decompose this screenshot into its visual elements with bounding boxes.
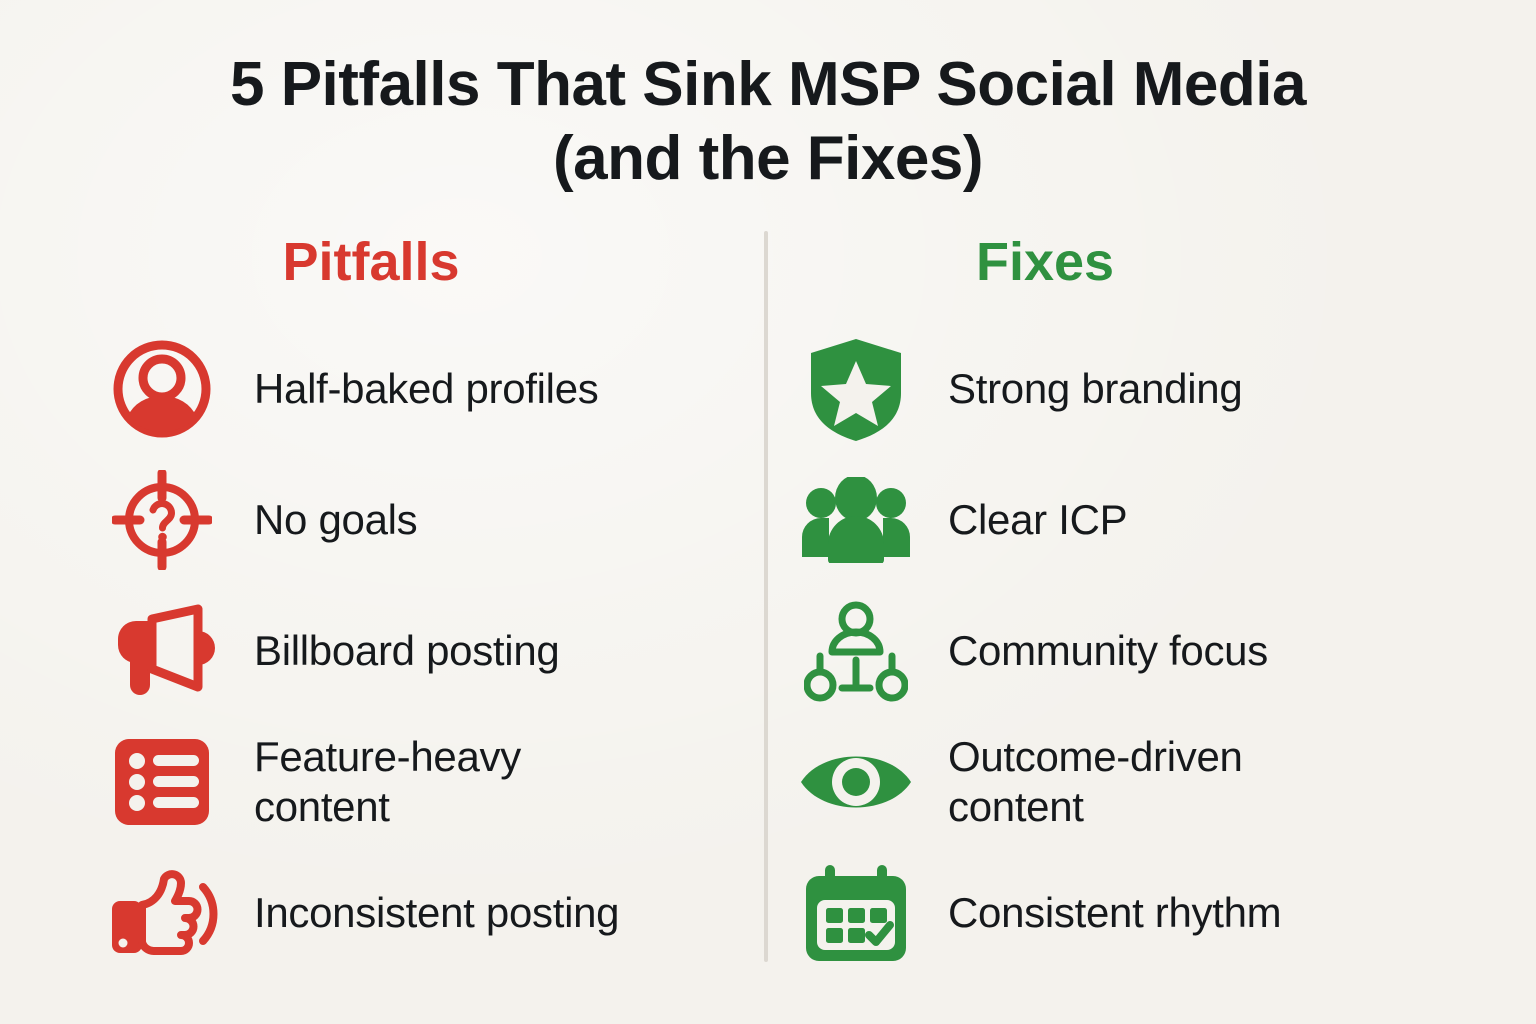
user-circle-icon xyxy=(96,335,228,443)
list-item: Inconsistent posting xyxy=(96,847,756,978)
list-item-label: Inconsistent posting xyxy=(254,888,619,938)
pitfalls-list: Half-baked profiles xyxy=(96,323,756,978)
fixes-list: Strong branding Clear ICP xyxy=(790,323,1490,978)
list-item-label: Half-baked profiles xyxy=(254,364,598,414)
list-item-label: Outcome-driven content xyxy=(948,732,1243,832)
list-item: Billboard posting xyxy=(96,585,756,716)
label-line-2: content xyxy=(254,782,521,832)
pitfalls-column: Pitfalls Half-baked profiles xyxy=(96,231,756,978)
list-item: Outcome-driven content xyxy=(790,716,1490,847)
thumbs-up-icon xyxy=(96,859,228,967)
column-divider xyxy=(764,231,768,962)
label-line-1: Clear ICP xyxy=(948,496,1127,543)
label-line-1: Inconsistent posting xyxy=(254,889,619,936)
list-item-label: Clear ICP xyxy=(948,495,1127,545)
fixes-heading: Fixes xyxy=(790,231,1490,293)
label-line-1: Community focus xyxy=(948,627,1268,674)
calendar-check-icon xyxy=(790,859,922,967)
label-line-1: Strong branding xyxy=(948,365,1242,412)
list-item: Community focus xyxy=(790,585,1490,716)
title-line-1: 5 Pitfalls That Sink MSP Social Media xyxy=(0,48,1536,122)
label-line-1: Billboard posting xyxy=(254,627,559,674)
list-item-label: Strong branding xyxy=(948,364,1242,414)
title-line-2: (and the Fixes) xyxy=(0,122,1536,196)
list-item-label: Billboard posting xyxy=(254,626,559,676)
label-line-1: Consistent rhythm xyxy=(948,889,1281,936)
target-question-icon xyxy=(96,466,228,574)
list-item: Feature-heavy content xyxy=(96,716,756,847)
list-item: No goals xyxy=(96,454,756,585)
fixes-column: Fixes Strong branding xyxy=(790,231,1490,978)
list-item-label: No goals xyxy=(254,495,417,545)
eye-icon xyxy=(790,728,922,836)
list-item: Half-baked profiles xyxy=(96,323,756,454)
label-line-2: content xyxy=(948,782,1243,832)
list-item: Clear ICP xyxy=(790,454,1490,585)
people-group-icon xyxy=(790,466,922,574)
network-community-icon xyxy=(790,597,922,705)
label-line-1: No goals xyxy=(254,496,417,543)
page-title: 5 Pitfalls That Sink MSP Social Media (a… xyxy=(0,48,1536,196)
pitfalls-heading: Pitfalls xyxy=(96,231,756,293)
label-line-1: Feature-heavy xyxy=(254,733,521,780)
shield-star-icon xyxy=(790,335,922,443)
megaphone-icon xyxy=(96,597,228,705)
list-item: Consistent rhythm xyxy=(790,847,1490,978)
list-item: Strong branding xyxy=(790,323,1490,454)
bullet-list-icon xyxy=(96,728,228,836)
list-item-label: Consistent rhythm xyxy=(948,888,1281,938)
infographic-poster: 5 Pitfalls That Sink MSP Social Media (a… xyxy=(0,0,1536,1024)
label-line-1: Half-baked profiles xyxy=(254,365,598,412)
list-item-label: Community focus xyxy=(948,626,1268,676)
list-item-label: Feature-heavy content xyxy=(254,732,521,832)
label-line-1: Outcome-driven xyxy=(948,733,1243,780)
